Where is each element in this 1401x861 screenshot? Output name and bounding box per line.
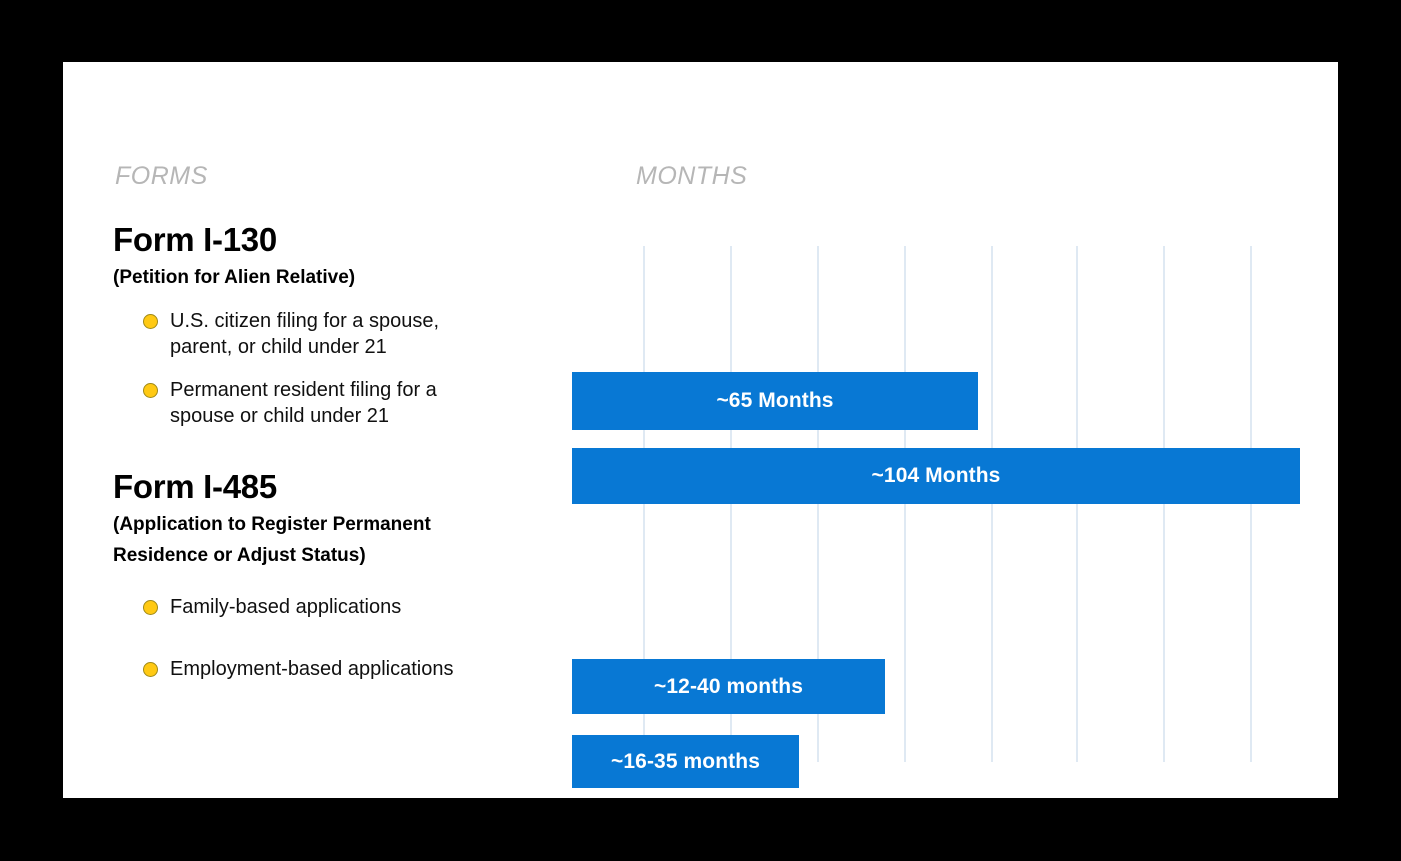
bar-label-1: ~104 Months (872, 464, 1001, 488)
bar-3: ~16-35 months (572, 735, 799, 788)
list-item: Family-based applications (113, 594, 573, 620)
bullet-text: Permanent resident filing for a spouse o… (170, 377, 470, 430)
form-block-i485: Form I-485 (Application to Register Perm… (113, 469, 573, 682)
bullet-text: Employment-based applications (170, 656, 454, 682)
bar-chart: ~65 Months~104 Months~12-40 months~16-35… (572, 246, 1338, 766)
chart-bars: ~65 Months~104 Months~12-40 months~16-35… (572, 246, 1338, 766)
bullet-dot-icon (143, 662, 158, 677)
column-header-forms: FORMS (115, 162, 208, 191)
column-header-months: MONTHS (636, 162, 747, 191)
form-subtitle-i130: (Petition for Alien Relative) (113, 263, 473, 294)
bullet-dot-icon (143, 600, 158, 615)
form-block-i130: Form I-130 (Petition for Alien Relative)… (113, 222, 573, 429)
bullet-list-i485: Family-based applications Employment-bas… (113, 594, 573, 683)
bullet-list-i130: U.S. citizen filing for a spouse, parent… (113, 308, 573, 430)
bar-1: ~104 Months (572, 448, 1300, 504)
form-title-i485: Form I-485 (113, 469, 573, 506)
bar-label-2: ~12-40 months (654, 675, 803, 699)
bar-2: ~12-40 months (572, 659, 885, 714)
form-subtitle-i485: (Application to Register Permanent Resid… (113, 510, 473, 572)
form-title-i130: Form I-130 (113, 222, 573, 259)
bullet-text: U.S. citizen filing for a spouse, parent… (170, 308, 470, 361)
chart-card: FORMS MONTHS Form I-130 (Petition for Al… (63, 62, 1338, 798)
list-item: Permanent resident filing for a spouse o… (113, 377, 573, 430)
bar-label-0: ~65 Months (716, 389, 833, 413)
list-item: Employment-based applications (113, 656, 573, 682)
list-item: U.S. citizen filing for a spouse, parent… (113, 308, 573, 361)
bar-label-3: ~16-35 months (611, 750, 760, 774)
forms-legend-column: Form I-130 (Petition for Alien Relative)… (113, 222, 573, 719)
bullet-dot-icon (143, 314, 158, 329)
bullet-dot-icon (143, 383, 158, 398)
bar-0: ~65 Months (572, 372, 978, 430)
bullet-text: Family-based applications (170, 594, 401, 620)
